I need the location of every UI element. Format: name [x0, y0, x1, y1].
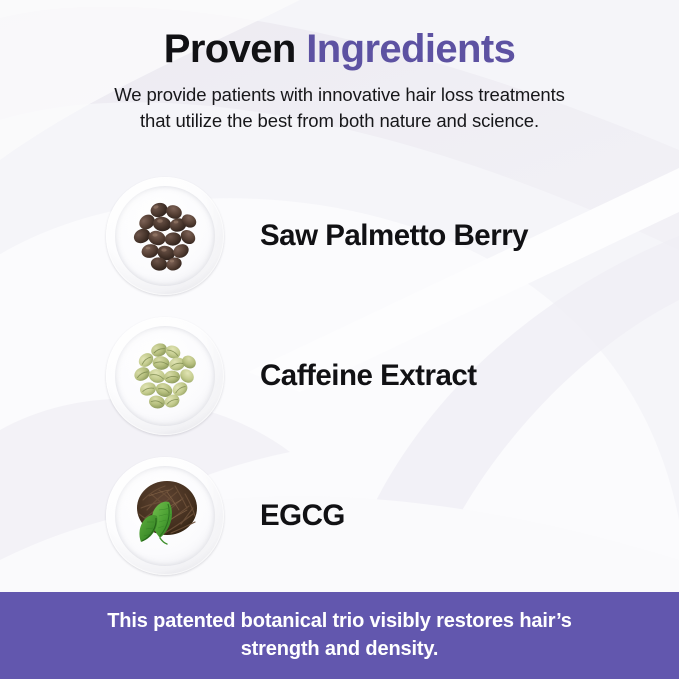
caffeine-extract-dish-icon [103, 314, 227, 438]
egcg-dish-icon [103, 454, 227, 578]
subtitle-line-1: We provide patients with innovative hair… [60, 82, 620, 108]
subtitle: We provide patients with innovative hair… [60, 82, 620, 135]
dish-inner [115, 326, 215, 426]
saw-palmetto-berries [115, 186, 215, 286]
ingredient-row: Saw Palmetto Berry [0, 166, 679, 306]
ingredient-label: Caffeine Extract [260, 359, 477, 393]
footer-banner: This patented botanical trio visibly res… [0, 592, 679, 679]
dish-inner [115, 466, 215, 566]
ingredient-row: Caffeine Extract [0, 306, 679, 446]
ingredient-list: Saw Palmetto Berry [0, 166, 679, 586]
saw-palmetto-berry-dish-icon [103, 174, 227, 298]
title-main: Proven [164, 27, 307, 71]
dish-inner [115, 186, 215, 286]
title-accent: Ingredients [306, 27, 515, 71]
subtitle-line-2: that utilize the best from both nature a… [60, 108, 620, 134]
petri-dish [106, 457, 224, 575]
ingredient-label: EGCG [260, 499, 345, 533]
ingredient-label: Saw Palmetto Berry [260, 219, 528, 253]
proven-ingredients-infographic: Proven Ingredients We provide patients w… [0, 0, 679, 679]
header: Proven Ingredients We provide patients w… [0, 0, 679, 135]
petri-dish [106, 317, 224, 435]
green-coffee-beans [115, 326, 215, 426]
green-tea-leaves [115, 466, 215, 566]
page-title: Proven Ingredients [0, 0, 679, 73]
banner-line-1: This patented botanical trio visibly res… [60, 608, 620, 636]
banner-text: This patented botanical trio visibly res… [60, 608, 620, 663]
banner-line-2: strength and density. [60, 636, 620, 664]
petri-dish [106, 177, 224, 295]
leaf-stem [160, 538, 167, 544]
ingredient-row: EGCG [0, 446, 679, 586]
